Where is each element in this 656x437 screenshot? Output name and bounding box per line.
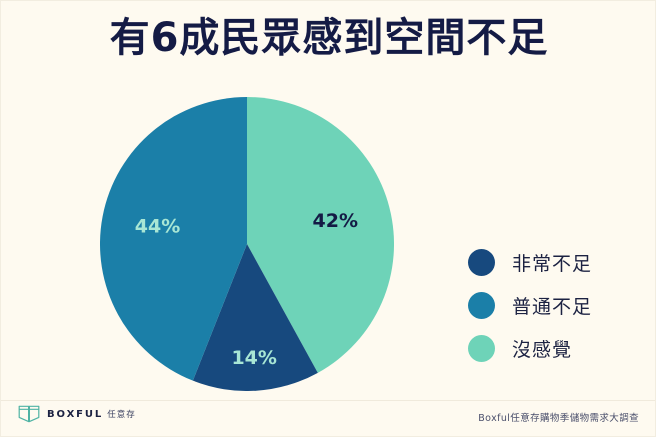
brand-name-chinese: 任意存 bbox=[107, 408, 136, 420]
legend-item-no-feeling[interactable]: 沒感覺 bbox=[468, 327, 648, 370]
pie-slice-label: 44% bbox=[135, 215, 180, 237]
infographic-poster: 有6成民眾感到空間不足 42%14%44% 非常不足 普通不足 沒感覺 bbox=[0, 0, 656, 437]
footer-divider bbox=[1, 400, 656, 401]
legend-swatch-very-insufficient bbox=[468, 249, 495, 276]
open-box-icon bbox=[18, 405, 40, 423]
pie-chart: 42%14%44% bbox=[100, 97, 394, 391]
brand-name-text: BOXFUL bbox=[47, 409, 103, 420]
pie-slice-label: 14% bbox=[231, 347, 276, 369]
legend-label-very-insufficient: 非常不足 bbox=[512, 249, 592, 276]
survey-credit: Boxful任意存購物季儲物需求大調查 bbox=[478, 410, 639, 424]
legend-swatch-no-feeling bbox=[468, 335, 495, 362]
brand-logo: BOXFUL 任意存 bbox=[18, 405, 136, 423]
legend-item-somewhat-insufficient[interactable]: 普通不足 bbox=[468, 284, 648, 327]
page-title: 有6成民眾感到空間不足 bbox=[1, 13, 656, 63]
pie-slice-label: 42% bbox=[313, 210, 358, 232]
chart-legend: 非常不足 普通不足 沒感覺 bbox=[468, 241, 648, 370]
legend-label-no-feeling: 沒感覺 bbox=[512, 335, 572, 362]
legend-item-very-insufficient[interactable]: 非常不足 bbox=[468, 241, 648, 284]
pie-chart-svg: 42%14%44% bbox=[100, 97, 394, 391]
legend-label-somewhat-insufficient: 普通不足 bbox=[512, 292, 592, 319]
legend-swatch-somewhat-insufficient bbox=[468, 292, 495, 319]
